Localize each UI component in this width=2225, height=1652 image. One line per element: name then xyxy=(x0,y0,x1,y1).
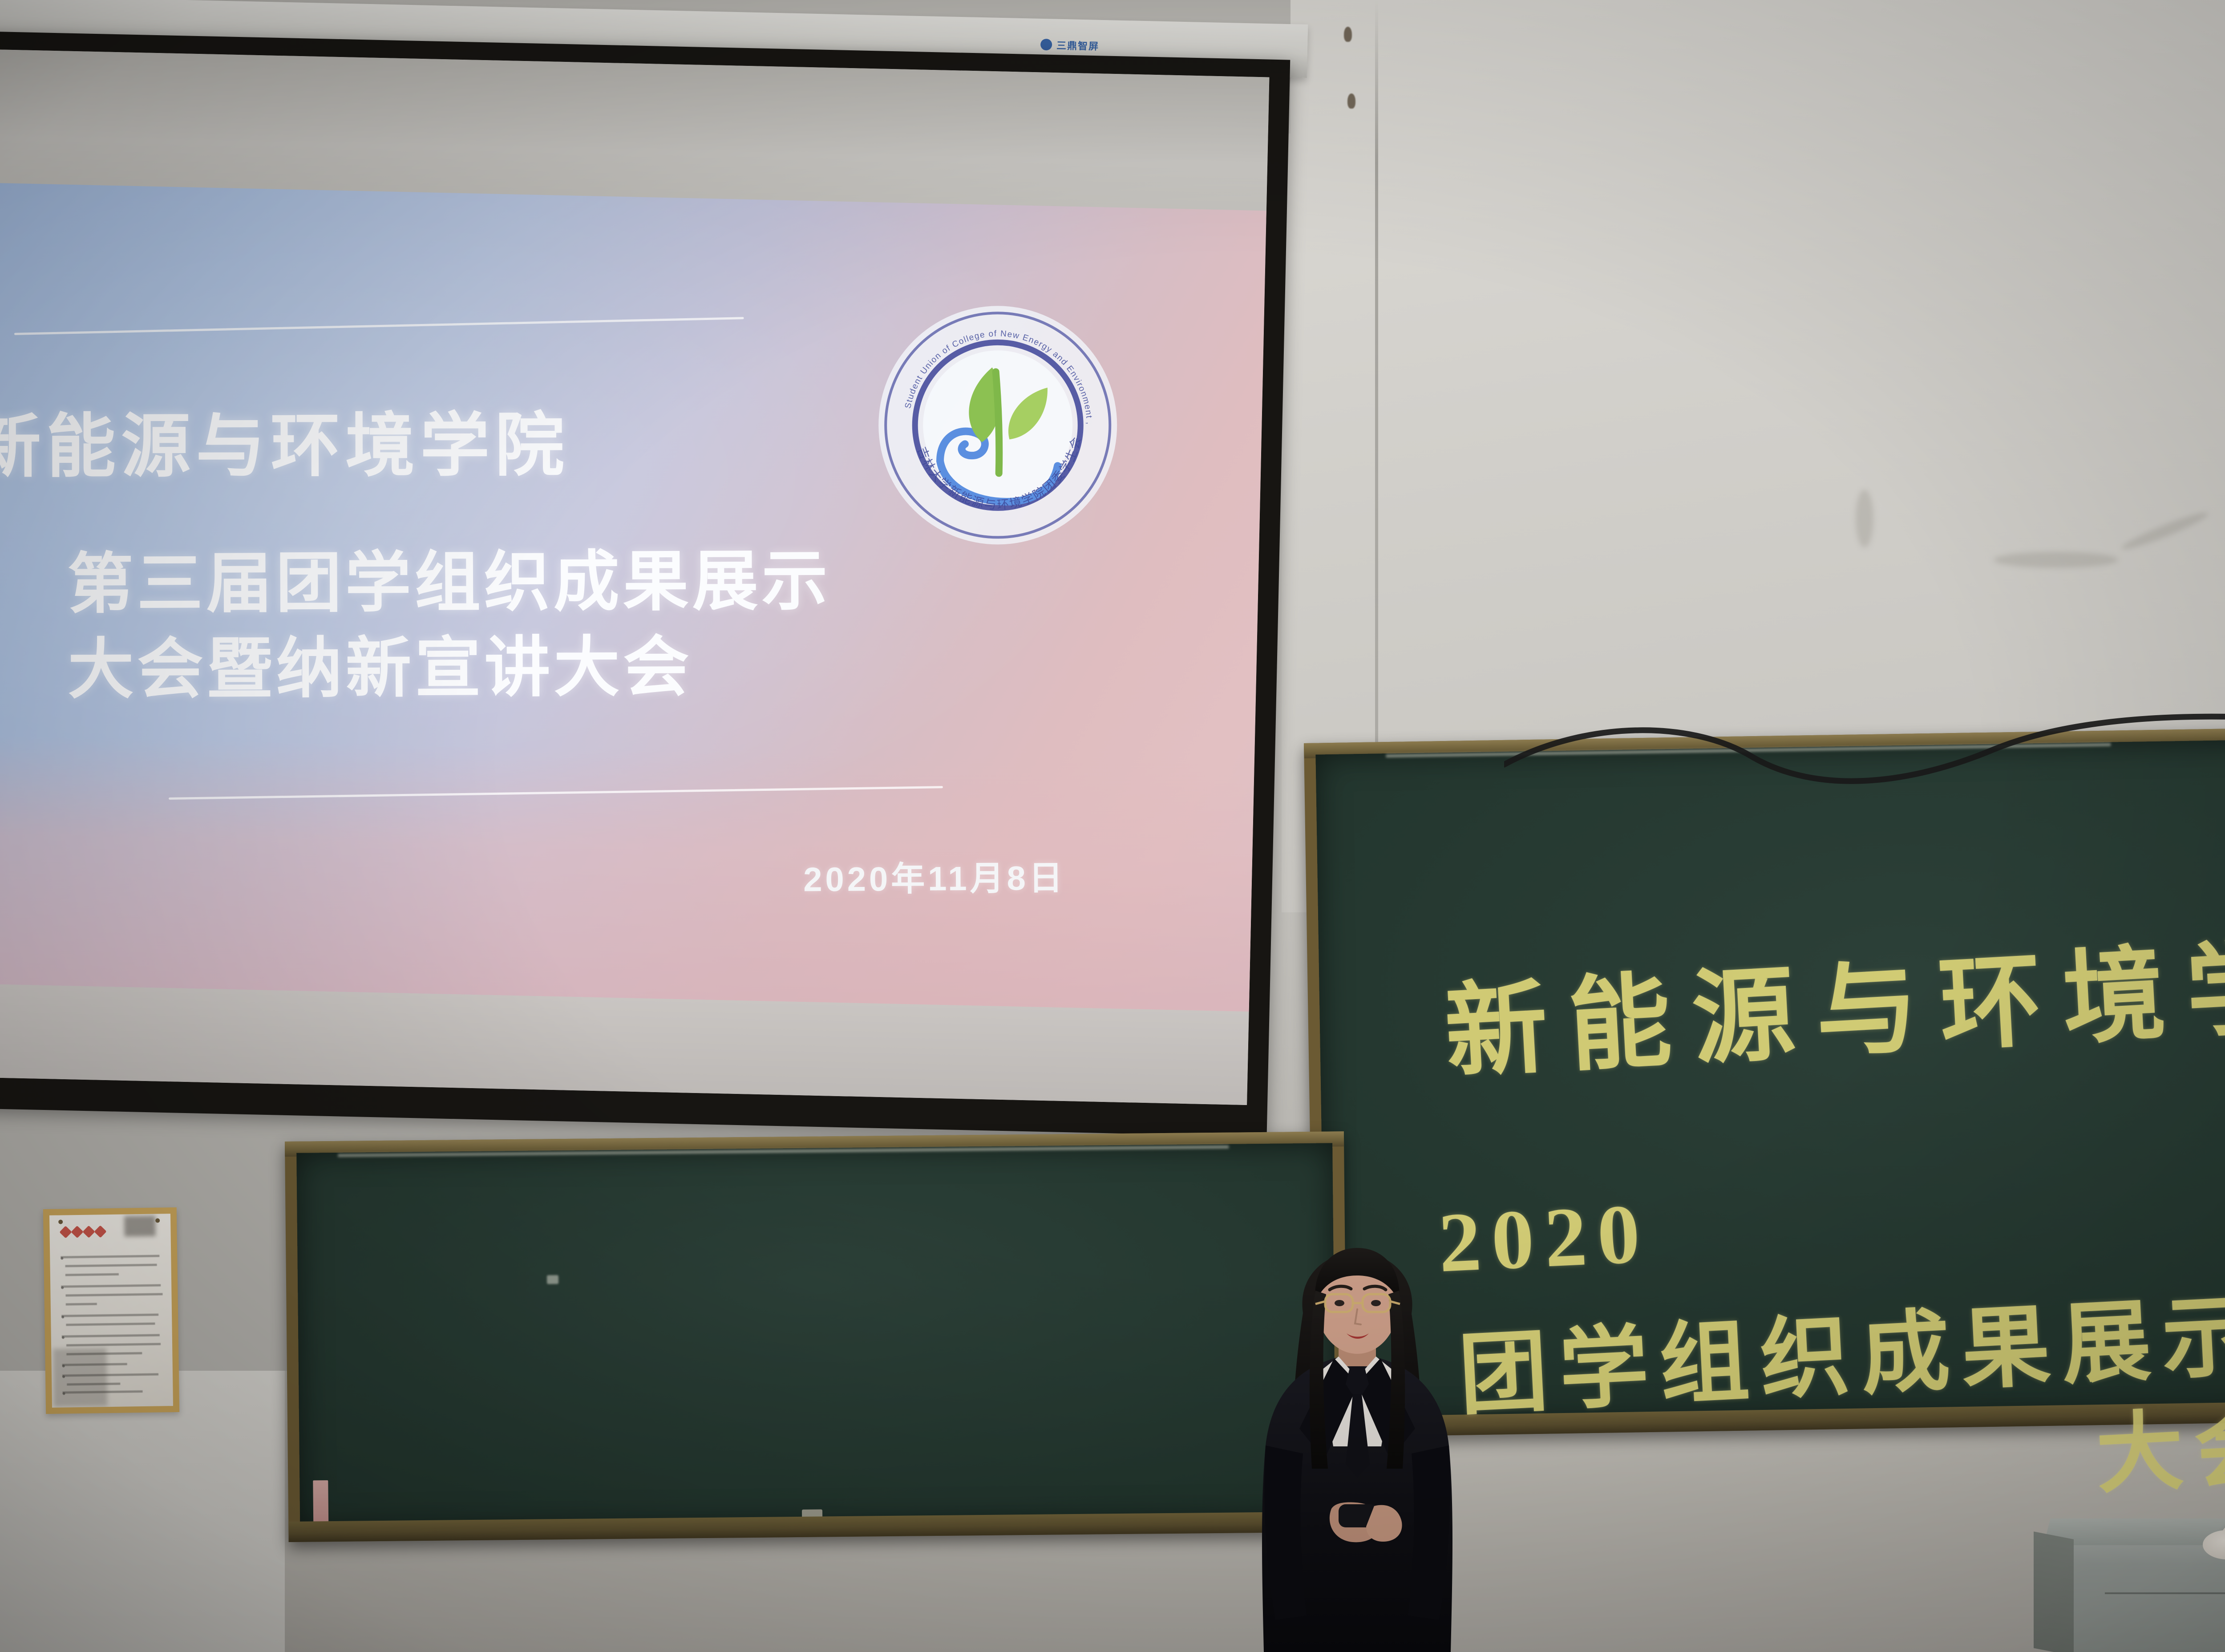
slide-subtitle-line1: 第三届团学组织成果展示 xyxy=(67,539,831,628)
poster-text-line xyxy=(65,1273,119,1276)
poster-text-line xyxy=(66,1323,155,1326)
chalk-line3-text: 大会 xyxy=(2093,1375,2225,1509)
diamond-icon xyxy=(82,1226,95,1238)
classroom-scene: 三鼎智屏 新能源与环境学院 第三届团学组织成果展示 大会暨纳新宣讲大会 2020… xyxy=(0,0,2225,1652)
chalkboard-left-surface xyxy=(296,1143,1336,1530)
chalkboard-left xyxy=(285,1131,1348,1542)
poster-text-line xyxy=(61,1255,159,1258)
diamond-icon xyxy=(94,1225,106,1238)
poster-stain xyxy=(53,1348,107,1407)
slide-divider-top xyxy=(14,317,744,335)
poster-sheet xyxy=(49,1214,173,1408)
presenter xyxy=(1219,1237,1495,1652)
diamond-icon xyxy=(59,1226,72,1238)
cabinet-door-panel[interactable] xyxy=(2105,1592,2225,1652)
projector-screen[interactable]: 新能源与环境学院 第三届团学组织成果展示 大会暨纳新宣讲大会 2020年11月8… xyxy=(0,31,1290,1137)
slide-subtitle-line2: 大会暨纳新宣讲大会 xyxy=(68,624,832,713)
chalkboard-sticker xyxy=(313,1480,328,1527)
screen-brand-label: 三鼎智屏 xyxy=(1040,37,1100,53)
college-emblem-logo: Student Union of College of New Energy a… xyxy=(873,300,1123,550)
poster-text-line xyxy=(66,1303,97,1305)
poster-pin xyxy=(155,1218,160,1223)
projected-slide: 新能源与环境学院 第三届团学组织成果展示 大会暨纳新宣讲大会 2020年11月8… xyxy=(0,183,1266,1012)
brand-text: 三鼎智屏 xyxy=(1056,38,1100,53)
poster-stain xyxy=(124,1216,156,1237)
wall-nail xyxy=(1347,93,1355,109)
poster-text-line xyxy=(65,1293,162,1296)
slide-subtitle: 第三届团学组织成果展示 大会暨纳新宣讲大会 xyxy=(67,539,832,713)
slide-date: 2020年11月8日 xyxy=(803,850,1066,901)
slide-bottom-band xyxy=(0,735,1254,1012)
poster-text-line xyxy=(66,1343,161,1346)
wall-scuff xyxy=(1856,490,1873,547)
notice-poster[interactable] xyxy=(43,1207,179,1414)
equipment-cabinet[interactable] xyxy=(2065,1540,2225,1652)
screen-surface: 新能源与环境学院 第三届团学组织成果展示 大会暨纳新宣讲大会 2020年11月8… xyxy=(0,49,1269,1105)
chalk-smudge xyxy=(547,1275,558,1284)
cabinet-side-panel xyxy=(2034,1531,2074,1652)
chalkboard-right-text: 新能源与环境学院 xyxy=(1441,896,2225,1098)
poster-text-line xyxy=(62,1334,160,1337)
wall-nail xyxy=(1344,27,1352,42)
slide-title: 新能源与环境学院 xyxy=(0,389,570,491)
wall-scuff xyxy=(1994,552,2118,568)
poster-diamond-header xyxy=(61,1227,105,1236)
poster-pin xyxy=(58,1220,63,1224)
lower-wall-left xyxy=(0,1371,285,1652)
poster-text-line xyxy=(65,1264,157,1267)
poster-text-line xyxy=(61,1314,158,1317)
diamond-icon xyxy=(71,1226,83,1238)
brand-dot-icon xyxy=(1040,39,1052,51)
poster-text-line xyxy=(61,1284,161,1288)
